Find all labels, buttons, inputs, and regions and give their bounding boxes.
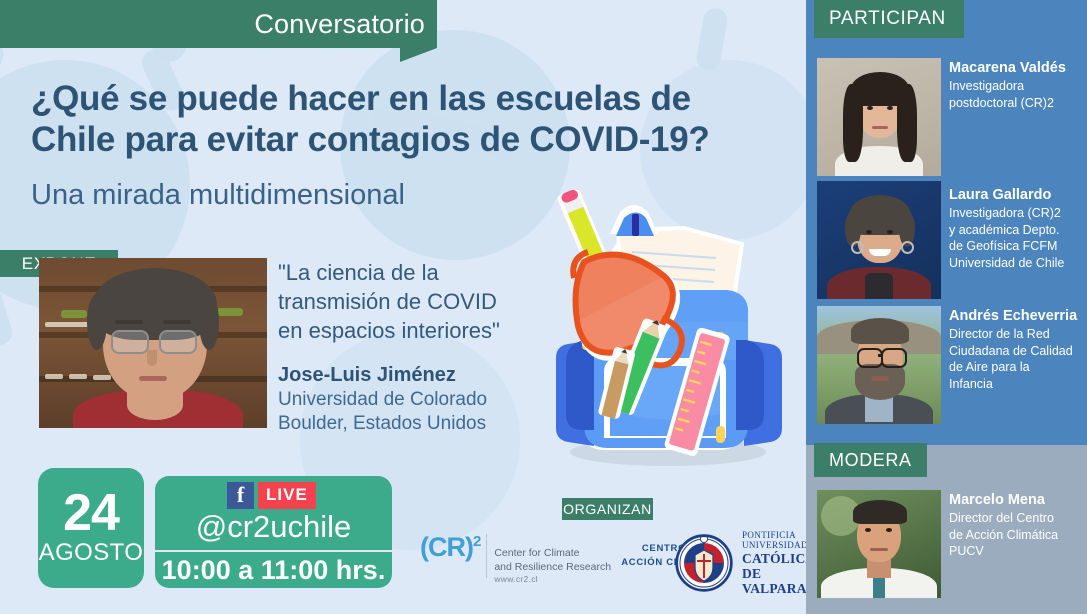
event-month: AGOSTO — [39, 539, 144, 567]
cr2-logo-text-line-2: and Resilience Research — [494, 560, 611, 574]
participant-photo-laura-gallardo — [817, 181, 941, 299]
backpack-svg — [520, 190, 810, 490]
photo-eye-left — [865, 528, 871, 532]
photo-hair-right — [897, 84, 917, 162]
modera-tag: MODERA — [814, 443, 927, 477]
participant-role-line-3: de Aire para la — [949, 359, 1085, 376]
participant-role-line-2: postdoctoral (CR)2 — [949, 95, 1081, 112]
photo-eye-right — [887, 230, 893, 234]
pucv-crest-svg — [675, 534, 733, 592]
poster-canvas: Conversatorio ¿Qué se puede hacer en las… — [0, 0, 1087, 614]
live-badge: LIVE — [258, 482, 316, 509]
participant-role-line-1: Investigadora — [949, 78, 1081, 95]
speaker-talk-title: "La ciencia de la transmisión de COVID e… — [278, 258, 538, 345]
photo-glasses-left — [857, 348, 883, 368]
photo-eye-left — [867, 106, 873, 110]
organizan-tag: ORGANIZAN — [562, 498, 653, 520]
photo-hair — [851, 318, 909, 344]
speaker-photo-glasses-right — [159, 330, 197, 354]
participant-role-line-4: Infancia — [949, 376, 1085, 393]
moderator-name: Marcelo Mena — [949, 492, 1085, 509]
photo-mouth — [872, 126, 888, 129]
school-backpack-illustration — [520, 190, 810, 490]
participant-photo-andres-echeverria — [817, 306, 941, 424]
pucv-crest-icon — [675, 534, 733, 592]
cr2-logo-divider — [486, 534, 487, 578]
speaker-name: Jose-Luis Jiménez — [278, 364, 558, 387]
speaker-photo-green-accent-2 — [217, 308, 243, 316]
photo-glasses-bridge — [878, 354, 883, 357]
participant-name: Andrés Echeverria — [949, 308, 1085, 325]
photo-mouth — [870, 548, 888, 551]
moderator-role-line-3: PUCV — [949, 543, 1085, 560]
facebook-handle[interactable]: @cr2uchile — [155, 506, 392, 548]
moderator-photo-marcelo-mena — [817, 490, 941, 598]
participant-role-line-2: Ciudadana de Calidad — [949, 343, 1085, 360]
cr2-logo-url: www.cr2.cl — [494, 574, 611, 585]
speaker-photo-brow-right — [163, 320, 191, 324]
speaker-photo-stripe-1 — [45, 374, 63, 379]
speaker-photo-green-accent-1 — [61, 310, 87, 318]
participants-panel: PARTICIPAN MODERA Macarena Valdés Invest… — [806, 0, 1087, 614]
participant-info-3: Andrés Echeverria Director de la Red Ciu… — [949, 308, 1085, 392]
photo-eye-right — [887, 106, 893, 110]
page-title-line-2: Chile para evitar contagios de COVID-19? — [31, 119, 791, 160]
participan-tag: PARTICIPAN — [814, 0, 964, 38]
speaker-photo-stripe-3 — [93, 375, 111, 380]
page-title: ¿Qué se puede hacer en las escuelas de C… — [31, 78, 791, 161]
photo-hair — [853, 500, 907, 524]
cr2-logo: (CR)2 Center for Climate and Resilience … — [420, 534, 611, 586]
photo-mouth — [871, 376, 889, 381]
cr2-logo-mark-text: (CR) — [420, 532, 473, 562]
participant-role-line-2: y académica Depto. — [949, 222, 1083, 239]
photo-earring-right — [901, 241, 914, 254]
event-date-badge: 24 AGOSTO — [38, 468, 144, 588]
participant-role-line-4: Universidad de Chile — [949, 255, 1083, 272]
participant-photo-macarena-valdes — [817, 58, 941, 176]
participant-info-2: Laura Gallardo Investigadora (CR)2 y aca… — [949, 187, 1083, 271]
livestream-badge[interactable]: f LIVE @cr2uchile 10:00 a 11:00 hrs. — [155, 476, 392, 588]
event-time: 10:00 a 11:00 hrs. — [155, 552, 392, 588]
participant-role-line-1: Director de la Red — [949, 326, 1085, 343]
photo-inner-shirt — [865, 273, 893, 299]
organizer-logos: (CR)2 Center for Climate and Resilience … — [420, 528, 800, 592]
speaker-photo-hair-top — [93, 268, 217, 340]
cr2-logo-text: Center for Climate and Resilience Resear… — [494, 534, 611, 586]
event-day: 24 — [63, 489, 119, 538]
speaker-talk-title-line-3: en espacios interiores" — [278, 316, 538, 345]
photo-hair-left — [843, 84, 863, 162]
moderator-role-line-1: Director del Centro — [949, 510, 1085, 527]
speaker-photo-nose — [147, 350, 157, 366]
speaker-photo-glasses-left — [111, 330, 149, 354]
cr2-logo-superscript: 2 — [473, 533, 480, 550]
ribbon-tail — [400, 48, 437, 62]
moderator-role-line-2: de Acción Climática — [949, 527, 1085, 544]
photo-eye-right — [886, 528, 892, 532]
photo-earring-left — [851, 241, 864, 254]
participant-name: Macarena Valdés — [949, 60, 1081, 77]
facebook-f-icon[interactable]: f — [227, 482, 254, 509]
photo-beard — [855, 364, 905, 400]
speaker-photo-stripe-4 — [45, 322, 91, 327]
speaker-talk-title-line-1: "La ciencia de la — [278, 258, 538, 287]
speaker-photo-stripe-2 — [69, 374, 87, 379]
participant-role-line-3: de Geofísica FCFM — [949, 238, 1083, 255]
main-content-area: Conversatorio ¿Qué se puede hacer en las… — [0, 0, 806, 614]
speaker-photo-mouth — [139, 376, 167, 381]
photo-glasses-right — [881, 348, 907, 368]
ribbon-label: Conversatorio — [0, 0, 425, 48]
cr2-logo-mark: (CR)2 — [420, 534, 480, 561]
photo-eye-left — [866, 230, 872, 234]
speaker-talk-title-line-2: transmisión de COVID — [278, 287, 538, 316]
page-title-line-1: ¿Qué se puede hacer en las escuelas de — [31, 78, 791, 119]
participant-info-1: Macarena Valdés Investigadora postdoctor… — [949, 60, 1081, 111]
facebook-live-row: f LIVE — [227, 482, 316, 508]
cr2-logo-text-line-1: Center for Climate — [494, 546, 611, 560]
participant-name: Laura Gallardo — [949, 187, 1083, 204]
speaker-photo-brow-left — [115, 320, 143, 324]
photo-mouth-smile — [869, 249, 891, 256]
moderator-info: Marcelo Mena Director del Centro de Acci… — [949, 492, 1085, 560]
participant-role-line-1: Investigadora (CR)2 — [949, 205, 1083, 222]
speaker-photo-jose-luis-jimenez — [39, 258, 267, 428]
